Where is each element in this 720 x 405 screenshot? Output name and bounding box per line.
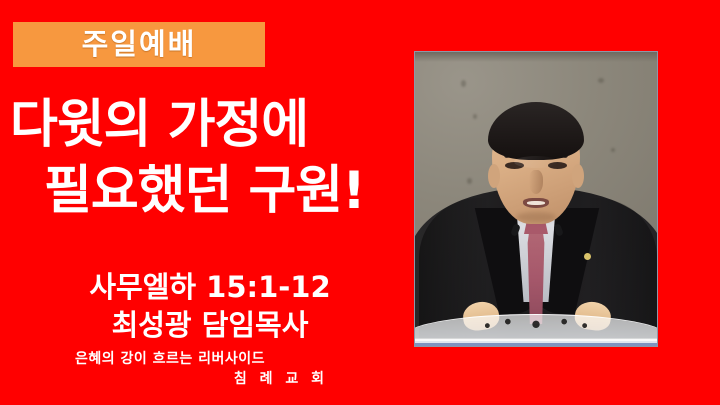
podium-scrollwork <box>472 316 600 332</box>
church-name-line-2: 침 례 교 회 <box>0 369 340 389</box>
teeth <box>527 201 545 205</box>
photo-footer-bar <box>415 341 657 346</box>
sermon-title-line-2: 필요했던 구원! <box>0 158 420 224</box>
wall-mark <box>473 114 477 119</box>
sermon-title-slide: 주일예배 다윗의 가정에 필요했던 구원! 사무엘하 15:1-12 최성광 담… <box>0 0 720 405</box>
scripture-reference: 사무엘하 15:1-12 <box>0 268 420 306</box>
ear-right <box>572 164 584 188</box>
chin-shadow <box>516 212 556 222</box>
sermon-meta: 사무엘하 15:1-12 최성광 담임목사 <box>0 268 420 344</box>
wall-mark <box>611 148 615 152</box>
church-name: 은혜의 강이 흐르는 리버사이드 침 례 교 회 <box>0 349 340 389</box>
backdrop-seam <box>415 52 657 62</box>
lapel-pin <box>584 253 591 260</box>
ear-left <box>488 164 500 188</box>
nose <box>529 170 543 194</box>
wall-mark <box>598 78 604 83</box>
hair-highlight <box>514 156 558 168</box>
wall-mark <box>461 80 466 87</box>
preacher-photo <box>414 51 658 347</box>
speaker-name: 최성광 담임목사 <box>0 306 420 344</box>
sermon-title-line-1: 다윗의 가정에 <box>0 92 420 158</box>
wall-mark <box>467 178 472 184</box>
church-name-line-1: 은혜의 강이 흐르는 리버사이드 <box>0 349 340 369</box>
service-type-banner: 주일예배 <box>13 22 265 67</box>
service-type-label: 주일예배 <box>82 30 197 59</box>
sermon-title: 다윗의 가정에 필요했던 구원! <box>0 92 420 224</box>
preacher-photo-image <box>415 52 657 346</box>
